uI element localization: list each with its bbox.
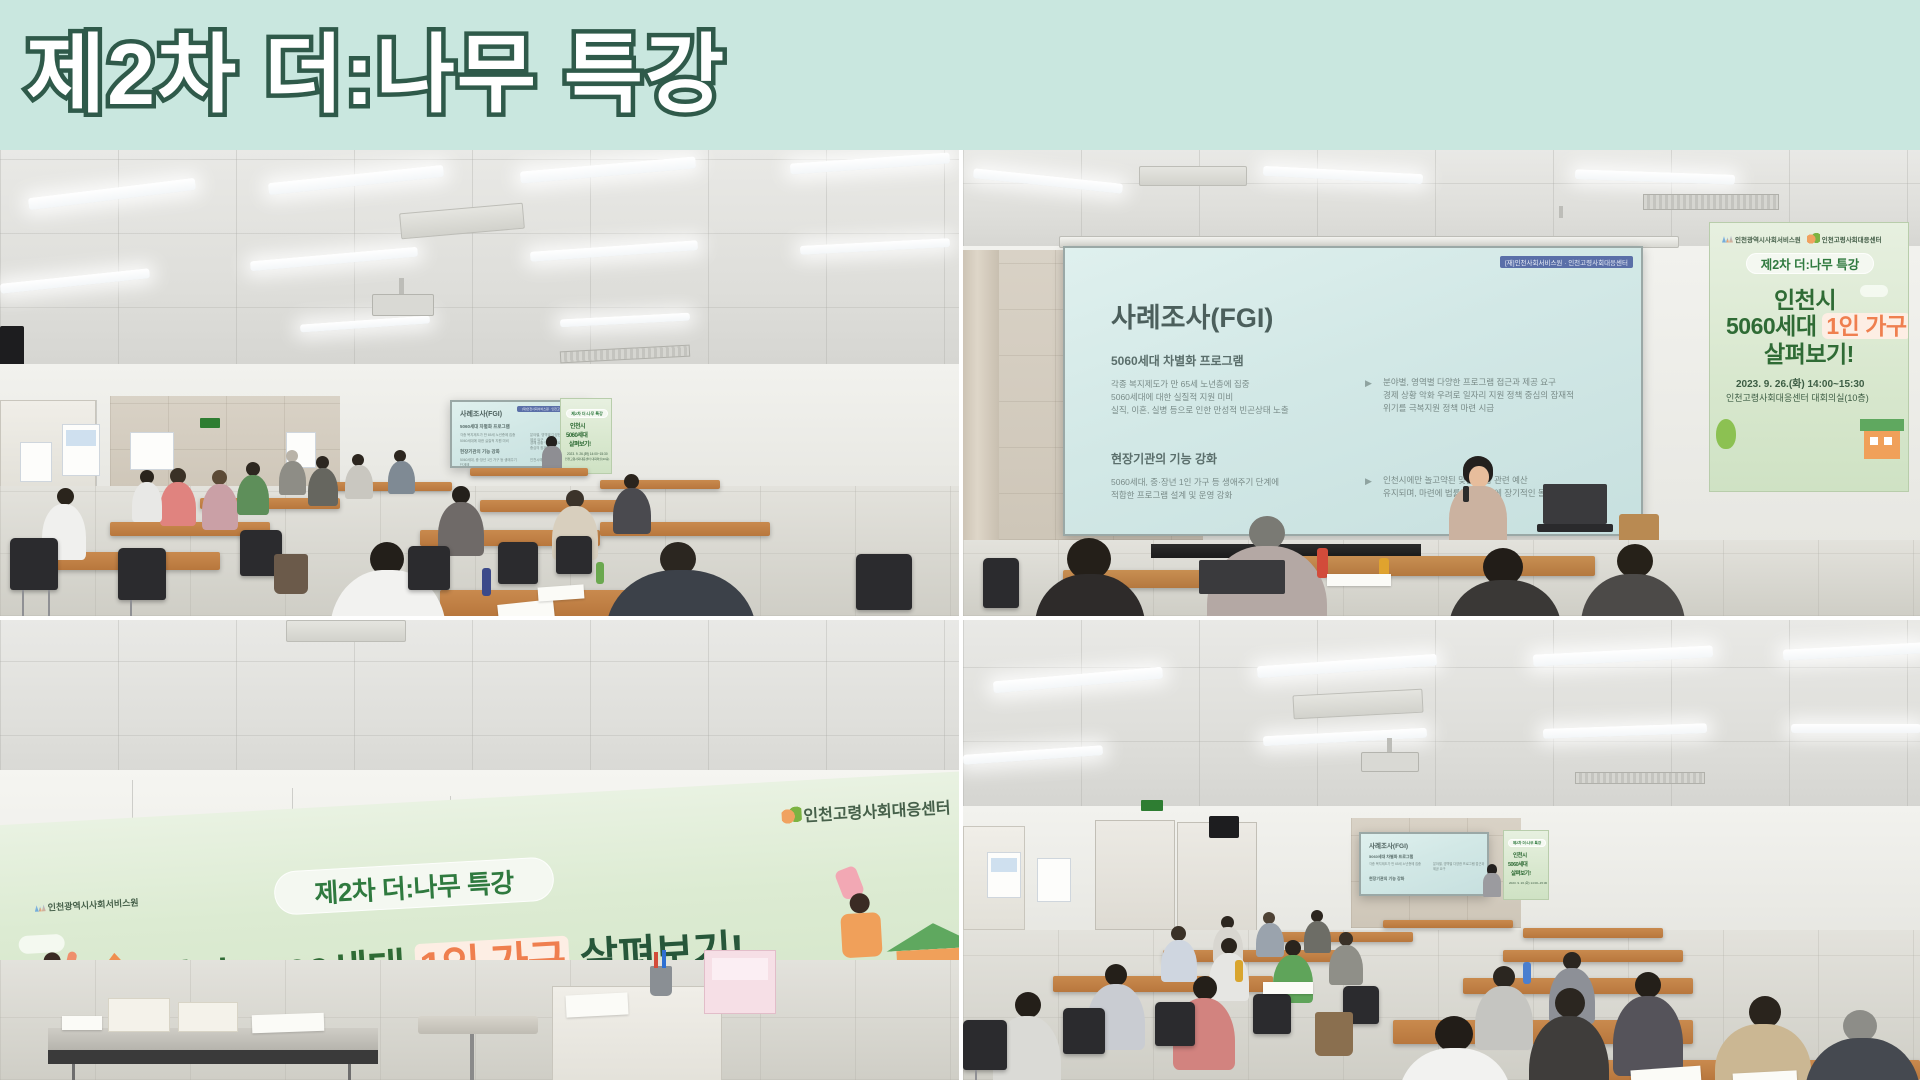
chair	[118, 548, 166, 600]
ceiling	[963, 620, 1920, 816]
projection-screen: 사례조사(FGI) 5060세대 차별화 프로그램 각종 복지제도가 만 65세…	[1359, 832, 1489, 896]
house-roof	[885, 921, 963, 952]
attendee-head	[212, 470, 227, 485]
attendee-head	[1635, 972, 1661, 998]
attendee-head	[624, 474, 639, 489]
projector-mount	[1559, 206, 1563, 218]
chair-leg	[130, 600, 132, 620]
attendee-head	[1285, 940, 1301, 956]
desk	[1383, 920, 1513, 928]
poster-page: 제2차 더:나무 특강 강의실 전경 - 수강생들이 책상에 앉아 있고 전면 …	[0, 0, 1920, 1080]
attendee-head	[1193, 976, 1217, 1000]
person-art-head	[849, 893, 870, 914]
attendee-head	[1493, 966, 1515, 988]
handbag	[274, 554, 308, 594]
lecturer-face	[1469, 466, 1489, 488]
bullet-arrow-icon: ▶	[1365, 378, 1372, 389]
pen	[662, 950, 666, 968]
aging-society-center-logo: 인천고령사회대응센터	[1807, 233, 1882, 244]
banner-logo-left: 인천광역시사회서비스원	[34, 895, 139, 914]
attendee-body	[613, 488, 651, 534]
photo-top-right: 강사가 마이크를 들고 스크린 옆에서 발표하는 모습 [재]인천사회서비스원 …	[963, 150, 1920, 620]
desk	[470, 468, 588, 476]
attendee-body	[1475, 986, 1533, 1050]
attendee-body	[279, 461, 306, 495]
notice-poster	[1037, 858, 1071, 902]
attendee-body	[237, 475, 269, 515]
house-window	[1870, 437, 1878, 445]
poster-header-band	[66, 430, 96, 446]
attendee-body	[345, 465, 373, 499]
poster-header-band	[991, 858, 1017, 872]
attendee-body	[132, 482, 162, 522]
table-leg	[348, 1064, 351, 1080]
attendee-body	[1329, 945, 1363, 985]
bullet-arrow-icon: ▶	[1365, 476, 1372, 487]
photo-top-left: 강의실 전경 - 수강생들이 책상에 앉아 있고 전면 스크린에 발표 자료가 …	[0, 150, 963, 620]
attendee-head	[246, 462, 260, 476]
exit-sign-icon	[200, 418, 220, 428]
house-body	[1864, 431, 1900, 459]
attendee-head	[1105, 964, 1127, 986]
house-art	[1860, 419, 1904, 459]
tree-art	[1716, 419, 1736, 449]
photo-collage: 강의실 전경 - 수강생들이 책상에 앉아 있고 전면 스크린에 발표 자료가 …	[0, 150, 1920, 1080]
desk	[1295, 556, 1595, 576]
attendee-body	[308, 468, 338, 506]
attendee-head	[57, 488, 74, 505]
desk	[600, 480, 720, 489]
attendee-head	[1249, 516, 1285, 550]
attendee-body	[202, 484, 238, 530]
logo-mark-icon	[1807, 233, 1820, 244]
attendee-head	[1015, 992, 1041, 1018]
desk	[1503, 950, 1683, 962]
poster-image-area	[712, 958, 768, 980]
water-bottle	[1523, 962, 1531, 984]
aging-society-center-logo: 인천고령사회대응센터	[781, 794, 951, 827]
chair-leg	[22, 590, 24, 620]
water-bottle	[1235, 960, 1243, 982]
attendee-head	[1617, 544, 1653, 578]
chair	[856, 554, 912, 610]
projector-icon	[1361, 752, 1419, 772]
laptop-icon	[1199, 560, 1285, 594]
notice-poster	[130, 432, 174, 470]
ceiling-vent	[1643, 194, 1779, 210]
speaker-icon	[0, 326, 24, 366]
handout-stack	[252, 1013, 325, 1034]
table-leg	[72, 1064, 75, 1080]
desk	[480, 500, 630, 512]
desk	[1263, 932, 1413, 942]
attendee-body	[160, 482, 196, 526]
logo-mark-icon	[34, 903, 45, 912]
handbag	[1315, 1012, 1353, 1056]
chair	[1253, 994, 1291, 1034]
entrance-door	[1095, 820, 1175, 930]
laptop-icon	[1543, 484, 1607, 524]
attendee-head	[1171, 926, 1186, 941]
attendee-body	[1304, 921, 1331, 953]
chair-leg	[48, 590, 50, 620]
chair	[963, 1020, 1007, 1070]
logo-mark-icon	[1722, 235, 1733, 243]
chair-leg	[975, 1070, 977, 1080]
microphone-icon	[1463, 486, 1469, 502]
side-table	[418, 1016, 538, 1034]
ac-vent	[1139, 166, 1247, 186]
entrance-door	[1177, 822, 1257, 932]
chair	[498, 542, 538, 584]
speaker-icon	[1209, 816, 1239, 838]
handout-stack	[62, 1016, 102, 1030]
incheon-social-service-logo: 인천광역시사회서비스원	[1722, 234, 1801, 244]
banner-logos: 인천광역시사회서비스원 인천고령사회대응센터	[1722, 233, 1882, 244]
pen-cup	[650, 966, 672, 996]
supply-box	[178, 1002, 238, 1032]
chair	[408, 546, 450, 590]
table-edge	[48, 1050, 378, 1064]
handout	[1327, 574, 1391, 586]
attendee-head	[1339, 932, 1353, 946]
projector-mount	[399, 278, 404, 294]
cloud-art	[1860, 285, 1888, 297]
photo-bottom-left: 행사 현수막이 걸린 벽면과 접수 테이블 인천광역시사회서비스원	[0, 620, 963, 1080]
handout	[565, 992, 628, 1017]
laptop-base	[1537, 524, 1613, 532]
attendee-head	[1435, 1016, 1473, 1052]
water-bottle	[596, 562, 604, 584]
chair	[556, 536, 592, 574]
wall-pillar	[963, 250, 999, 550]
pen	[654, 952, 658, 968]
page-header: 제2차 더:나무 특강	[0, 0, 1920, 150]
ceiling-vent	[1575, 772, 1705, 784]
attendee-body	[388, 461, 415, 494]
projector-mount	[1387, 738, 1392, 752]
exit-sign-icon	[1141, 800, 1163, 811]
lecturer-body	[1483, 873, 1501, 897]
chair	[1063, 1008, 1105, 1054]
banner-logo-right: 인천고령사회대응센터	[781, 794, 951, 827]
attendee-body	[1613, 996, 1683, 1076]
attendee-body	[1161, 940, 1197, 982]
house-window	[1884, 437, 1892, 445]
standing-banner: 제2차 더:나무 특강 인천시 5060세대 살펴보기! 2023. 9. 26…	[1503, 830, 1549, 900]
ac-vent	[286, 620, 406, 642]
notice-poster	[20, 442, 52, 482]
incheon-social-service-logo: 인천광역시사회서비스원	[34, 895, 139, 914]
supply-box	[108, 998, 170, 1032]
page-title: 제2차 더:나무 특강	[26, 32, 726, 118]
ceiling-grid	[963, 620, 1920, 816]
photo-bottom-right: 강의실 후면에서 바라본 수강생들	[963, 620, 1920, 1080]
attendee-head	[1221, 938, 1237, 954]
logo-mark-icon	[781, 806, 802, 824]
chair	[10, 538, 58, 590]
standing-banner: 인천광역시사회서비스원 인천고령사회대응센터 제2차 더:나무 특강 인천시 5…	[1709, 222, 1909, 492]
table-leg	[470, 1034, 474, 1080]
ceiling-lamp	[1791, 724, 1920, 733]
house-roof	[1860, 419, 1904, 431]
projector-icon	[372, 294, 434, 316]
attendee-body	[1256, 923, 1284, 957]
person-art-body	[840, 912, 882, 958]
chair	[1155, 1002, 1195, 1046]
chair	[983, 558, 1019, 608]
handout	[1263, 982, 1313, 994]
water-bottle	[482, 568, 491, 596]
desk	[1523, 928, 1663, 938]
attendee-head	[1555, 988, 1585, 1018]
standing-banner: 제2차 더:나무 특강 인천시 5060세대 살펴보기! 2023. 9. 26…	[560, 398, 612, 474]
